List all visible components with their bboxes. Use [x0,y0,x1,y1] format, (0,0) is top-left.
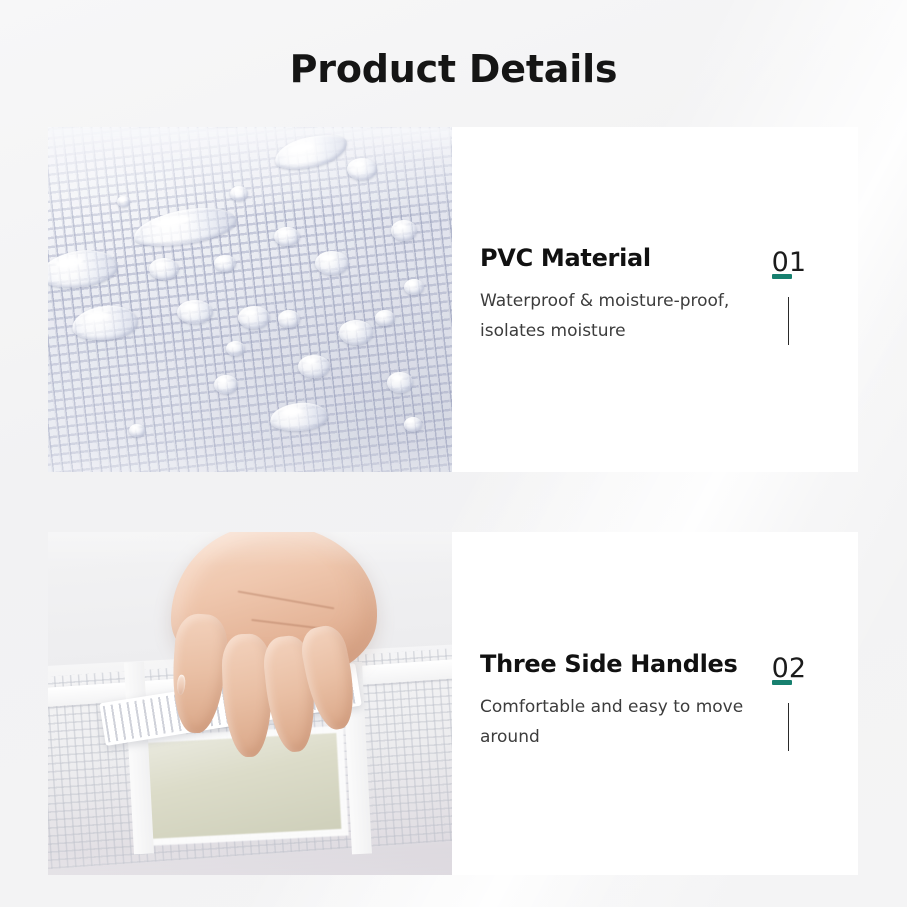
feature-text-block-2: Three Side Handles Comfortable and easy … [480,651,788,753]
water-droplet [278,310,300,328]
water-droplet [404,279,424,295]
feature-content-1: PVC Material Waterproof & moisture-proof… [452,127,858,472]
mesh-depth-of-field [48,127,452,217]
feature-title: PVC Material [480,245,788,271]
water-droplet [177,300,213,324]
water-droplet [214,255,236,272]
badge-number: 02 [772,655,806,682]
feature-content-2: Three Side Handles Comfortable and easy … [452,532,858,875]
fingernail [177,674,187,695]
water-droplet [404,417,422,432]
feature-description: Comfortable and easy to move around [480,693,770,753]
feature-number-badge-2: 02 [772,655,806,751]
feature-title: Three Side Handles [480,651,788,677]
water-droplet [347,158,377,180]
water-droplet [339,320,373,345]
water-droplet [226,341,245,356]
handle-grip-photo [48,532,452,875]
water-droplet [214,375,238,394]
badge-vertical-rule [788,297,789,345]
mesh-fabric-photo [48,127,452,472]
feature-number-badge-1: 01 [772,249,806,345]
feature-image-three-side-handles [48,532,452,875]
water-droplet [117,196,130,207]
feature-image-pvc-material [48,127,452,472]
page-title: Product Details [290,50,618,88]
badge-vertical-rule [788,703,789,751]
feature-card-1: PVC Material Waterproof & moisture-proof… [48,127,858,472]
page-header: Product Details [0,0,907,127]
water-droplet [298,355,330,378]
feature-text-block-1: PVC Material Waterproof & moisture-proof… [480,245,788,347]
water-droplet [230,186,248,201]
water-droplet [375,310,395,326]
badge-underline-accent [772,680,792,685]
water-droplet [315,251,349,275]
badge-underline-accent [772,274,792,279]
hand-illustration [157,532,391,772]
index-finger [169,612,229,734]
water-droplet [129,424,145,437]
product-details-page: Product Details [0,0,907,907]
badge-number: 01 [772,249,806,276]
water-droplet [149,258,179,280]
feature-card-2: Three Side Handles Comfortable and easy … [48,532,858,875]
feature-description: Waterproof & moisture-proof, isolates mo… [480,287,770,347]
